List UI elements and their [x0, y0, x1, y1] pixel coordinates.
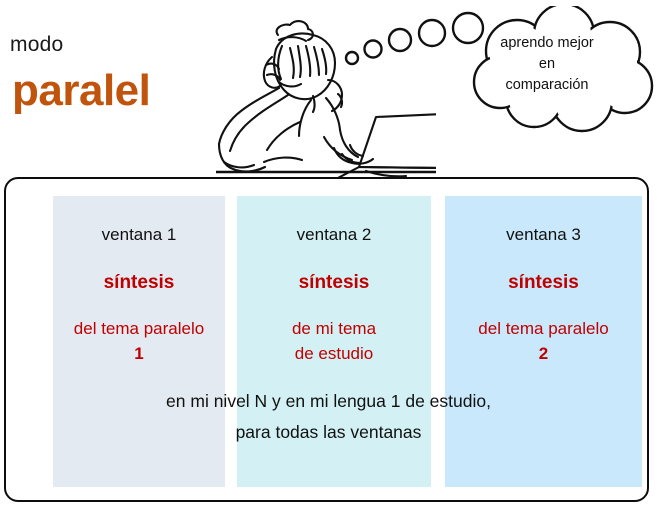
window-column-3-label: ventana 3 — [445, 225, 642, 245]
thought-bubble-line-1: aprendo mejor — [467, 33, 627, 54]
header: modo paralel — [0, 0, 657, 177]
window-column-3-body-line-1: del tema paralelo — [445, 316, 642, 341]
panel-caption: en mi nivel N y en mi lengua 1 de estudi… — [6, 386, 651, 448]
window-column-3-body: del tema paralelo 2 — [445, 316, 642, 366]
thought-bubble-text: aprendo mejor en comparación — [467, 33, 627, 96]
mode-title: paralel — [12, 66, 150, 116]
window-column-1-body-line-1: del tema paralelo — [53, 316, 225, 341]
window-column-1-label: ventana 1 — [53, 225, 225, 245]
thought-bubble-line-2: en — [467, 54, 627, 75]
windows-panel: ventana 1 síntesis del tema paralelo 1 v… — [4, 177, 649, 502]
thought-bubble-icon: aprendo mejor en comparación — [342, 6, 657, 136]
window-column-1-heading: síntesis — [53, 272, 225, 294]
panel-caption-line-2: para todas las ventanas — [6, 417, 651, 448]
window-column-3-body-line-2: 2 — [445, 341, 642, 366]
window-column-2-heading: síntesis — [237, 272, 431, 294]
window-column-1-body: del tema paralelo 1 — [53, 316, 225, 366]
window-column-1-body-line-2: 1 — [53, 341, 225, 366]
panel-caption-line-1: en mi nivel N y en mi lengua 1 de estudi… — [6, 386, 651, 417]
window-column-2-label: ventana 2 — [237, 225, 431, 245]
window-column-3-heading: síntesis — [445, 272, 642, 294]
thought-bubble-line-3: comparación — [467, 75, 627, 96]
mode-label: modo — [10, 33, 63, 57]
window-column-2-body-line-1: de mi tema — [237, 316, 431, 341]
window-column-2-body-line-2: de estudio — [237, 341, 431, 366]
windows-columns: ventana 1 síntesis del tema paralelo 1 v… — [6, 179, 651, 504]
window-column-2-body: de mi tema de estudio — [237, 316, 431, 366]
